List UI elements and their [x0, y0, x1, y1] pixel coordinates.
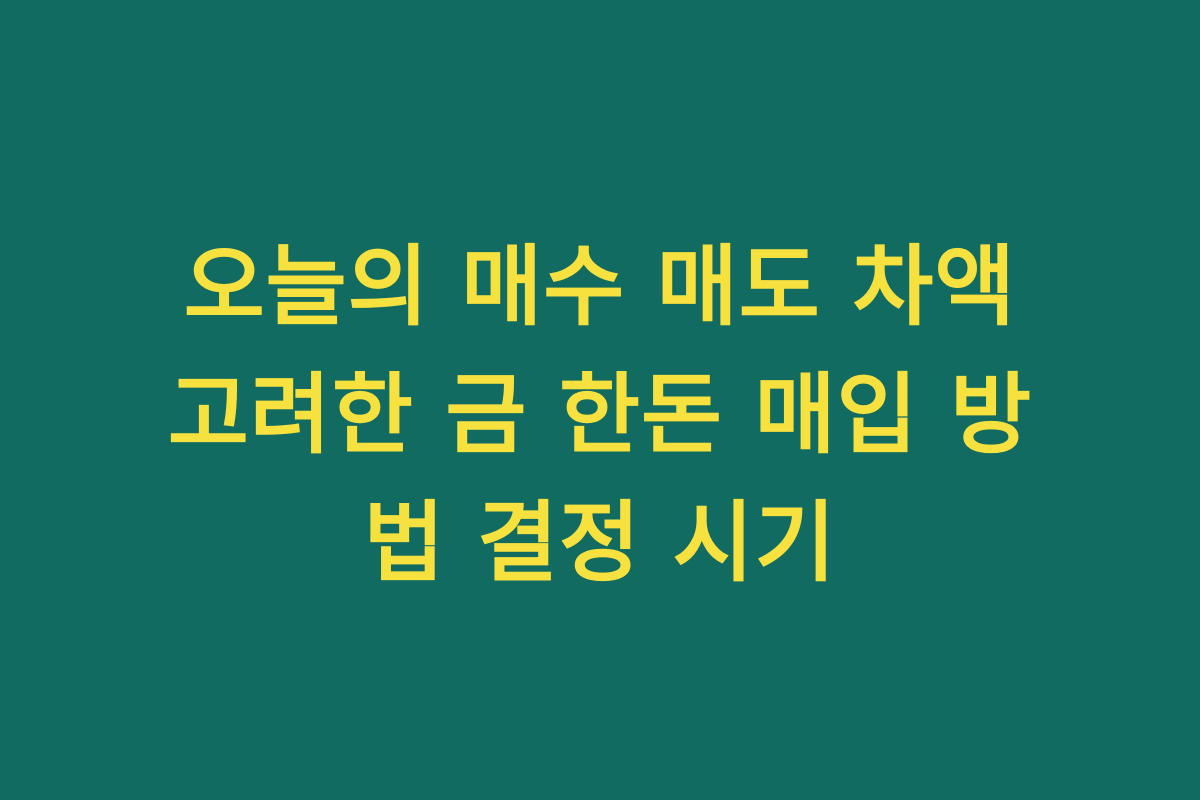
title-line-2: 고려한 금 한돈 매입 방 — [95, 351, 1105, 479]
title-line-1: 오늘의 매수 매도 차액 — [95, 223, 1105, 351]
title-line-3: 법 결정 시기 — [95, 479, 1105, 607]
banner-canvas: 오늘의 매수 매도 차액 고려한 금 한돈 매입 방 법 결정 시기 — [0, 0, 1200, 800]
title-block: 오늘의 매수 매도 차액 고려한 금 한돈 매입 방 법 결정 시기 — [95, 223, 1105, 607]
